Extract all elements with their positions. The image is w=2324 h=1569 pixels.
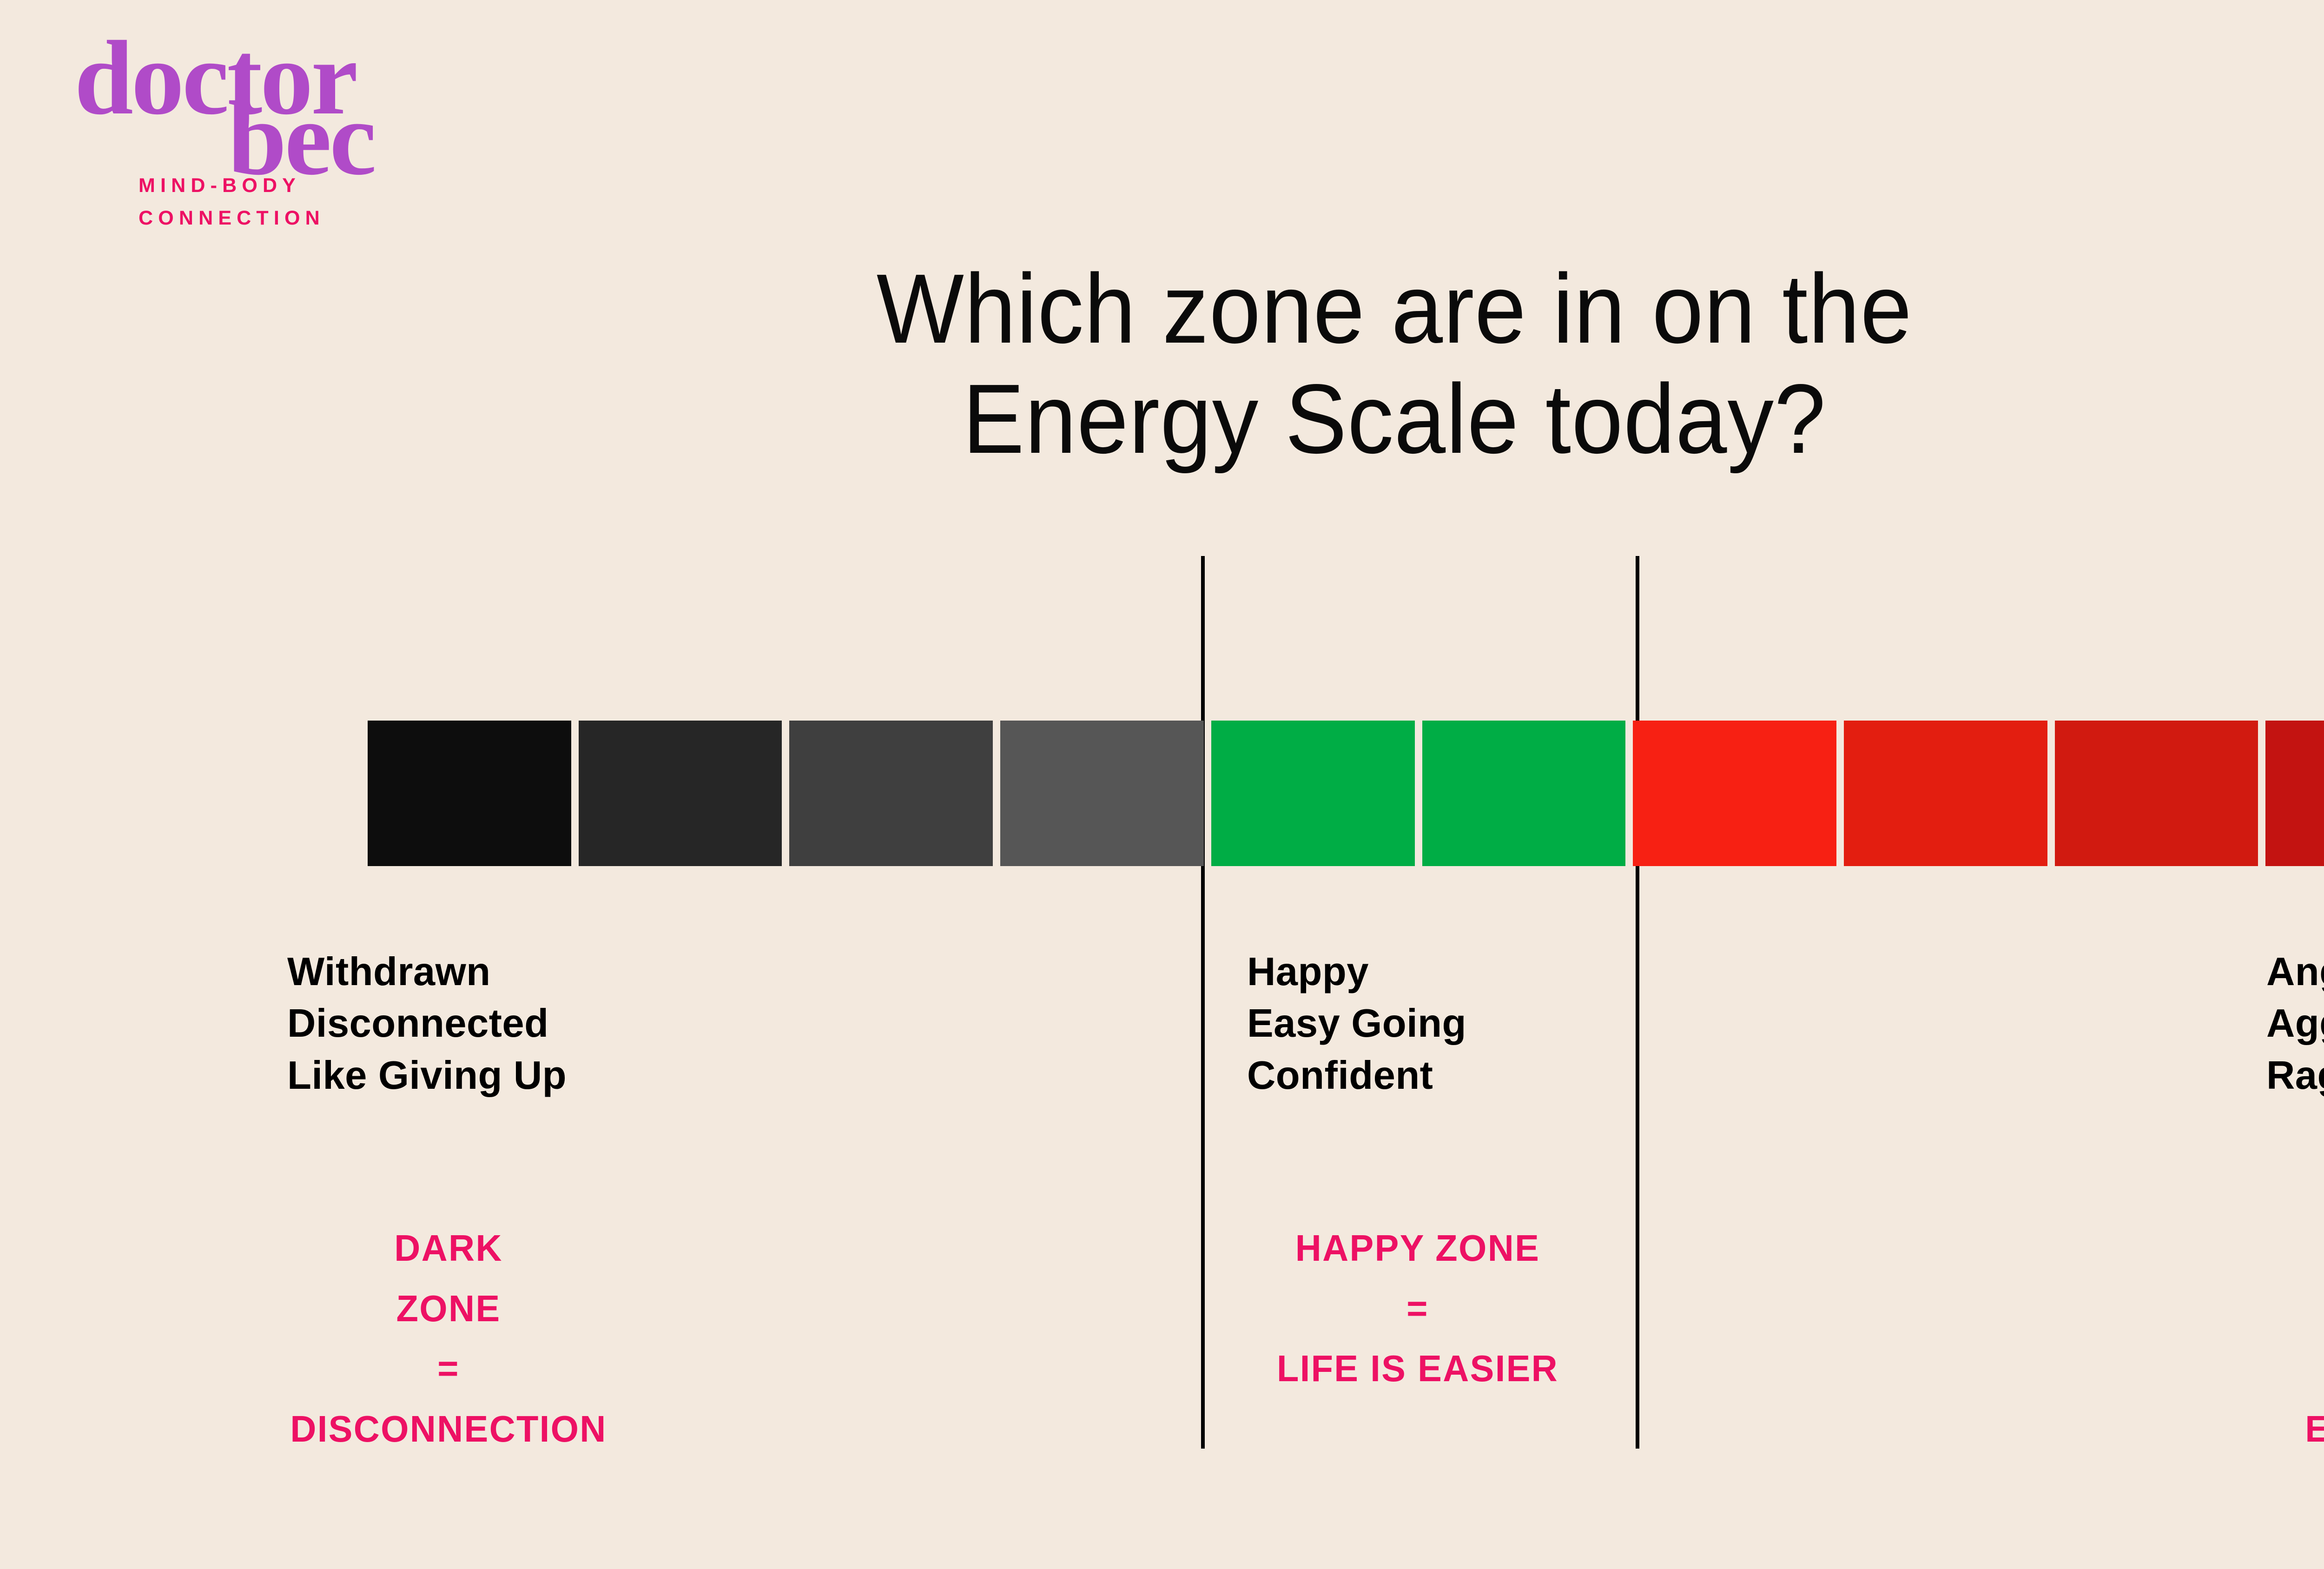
descriptor-red-zone: Angry Aggressive Rage [2266,946,2324,1101]
caption-red-zone: RED ZONE = EXTREME [2155,1218,2324,1459]
slide-canvas: doctor bec MIND-BODY CONNECTION Career C… [0,0,2324,1569]
logo-tagline-line2: CONNECTION [139,207,325,230]
brand-logo[interactable]: doctor bec MIND-BODY CONNECTION [70,35,442,193]
scale-segment-1[interactable] [368,721,571,866]
page-title: Which zone are in on the Energy Scale to… [0,253,2324,474]
scale-segment-9[interactable] [2055,721,2258,866]
zone-divider-left [1201,556,1205,1449]
logo-tagline-line1: MIND-BODY [139,174,301,197]
scale-segment-5[interactable] [1211,721,1415,866]
caption-happy-zone: HAPPY ZONE = LIFE IS EASIER [1219,1218,1616,1399]
page-title-line2: Energy Scale today? [84,364,2324,474]
scale-segment-2[interactable] [579,721,782,866]
descriptor-dark-zone: Withdrawn Disconnected Like Giving Up [287,946,567,1101]
scale-segment-4[interactable] [1000,721,1204,866]
scale-segment-10[interactable] [2265,721,2324,866]
logo-word-bec: bec [228,95,375,182]
scale-segment-3[interactable] [789,721,993,866]
caption-dark-zone: DARK ZONE = DISCONNECTION [239,1218,658,1459]
energy-scale-bar[interactable] [368,721,2324,866]
scale-segment-7[interactable] [1633,721,1836,866]
scale-segment-6[interactable] [1422,721,1626,866]
zone-divider-right [1636,556,1639,1449]
scale-segment-8[interactable] [1844,721,2047,866]
descriptor-happy-zone: Happy Easy Going Confident [1247,946,1466,1101]
page-title-line1: Which zone are in on the [84,253,2324,364]
